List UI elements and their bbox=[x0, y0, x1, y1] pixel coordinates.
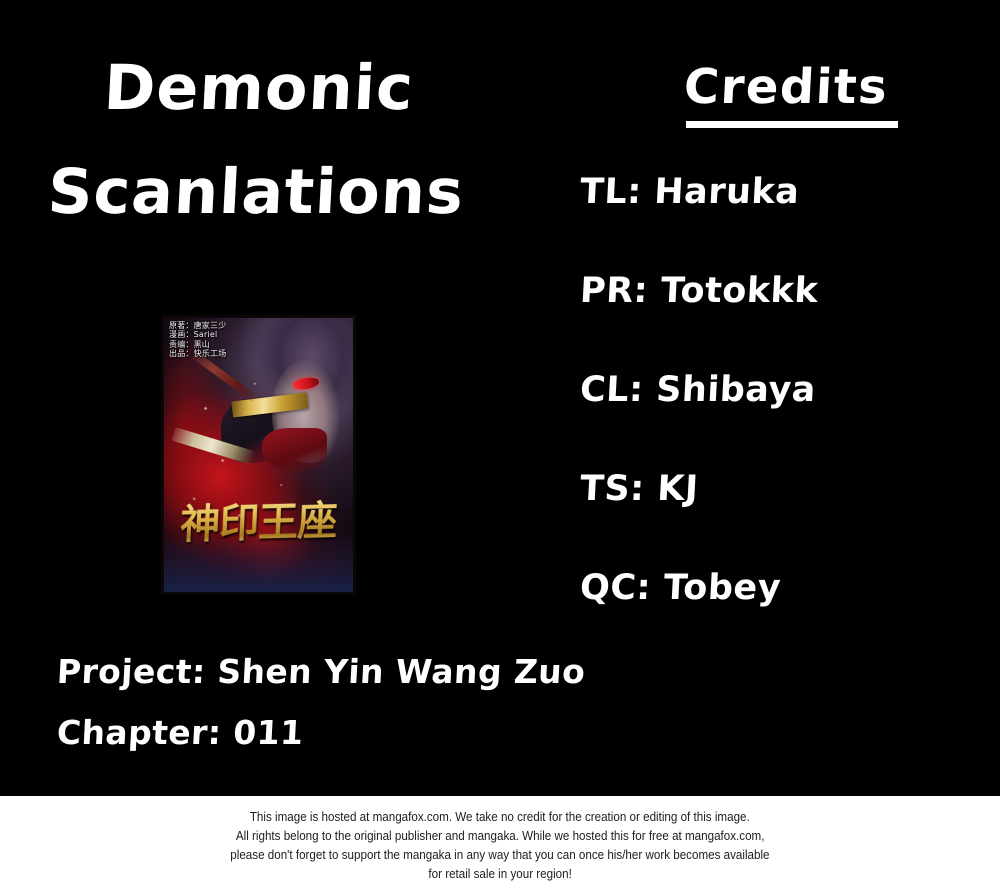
credits-page: Demonic Scanlations Credits TL: Haruka P… bbox=[0, 0, 1000, 890]
host-disclaimer-footer: This image is hosted at mangafox.com. We… bbox=[0, 796, 1000, 890]
group-title-line-1: Demonic bbox=[102, 57, 569, 119]
cover-staff-credits: 原著：唐家三少 漫画：Sariel 责编：黑山 出品：快乐工场 bbox=[169, 321, 226, 359]
credit-row-cl: CL: Shibaya bbox=[579, 373, 961, 408]
credits-underline-rule bbox=[686, 121, 898, 128]
cover-staff-artist: 漫画：Sariel bbox=[169, 330, 226, 339]
cover-staff-editor: 责编：黑山 bbox=[169, 340, 226, 349]
project-line: Project: Shen Yin Wang Zuo bbox=[56, 655, 698, 688]
cover-chinese-title: 神印王座 bbox=[164, 488, 353, 551]
disclaimer-line-4: for retail sale in your region! bbox=[428, 865, 571, 884]
cover-artwork: 原著：唐家三少 漫画：Sariel 责编：黑山 出品：快乐工场 神印王座 bbox=[164, 318, 353, 592]
cover-staff-producer: 出品：快乐工场 bbox=[169, 349, 226, 358]
cover-art-sparks bbox=[164, 318, 353, 592]
credit-row-qc: QC: Tobey bbox=[579, 571, 961, 606]
credit-row-pr: PR: Totokkk bbox=[579, 274, 961, 309]
release-info: Project: Shen Yin Wang Zuo Chapter: 011 bbox=[57, 655, 697, 749]
credits-section: Credits TL: Haruka PR: Totokkk CL: Shiba… bbox=[580, 62, 960, 606]
credits-heading: Credits bbox=[579, 62, 962, 112]
scanlation-group-title: Demonic Scanlations bbox=[48, 57, 568, 223]
credit-row-ts: TS: KJ bbox=[579, 472, 961, 507]
group-title-line-2: Scanlations bbox=[46, 161, 569, 223]
disclaimer-line-3: please don't forget to support the manga… bbox=[230, 846, 769, 865]
manga-cover-thumbnail: 原著：唐家三少 漫画：Sariel 责编：黑山 出品：快乐工场 神印王座 bbox=[161, 315, 356, 595]
disclaimer-line-2: All rights belong to the original publis… bbox=[236, 827, 765, 846]
disclaimer-line-1: This image is hosted at mangafox.com. We… bbox=[250, 808, 750, 827]
black-credits-panel: Demonic Scanlations Credits TL: Haruka P… bbox=[0, 0, 1000, 796]
credit-row-tl: TL: Haruka bbox=[579, 175, 961, 210]
chapter-line: Chapter: 011 bbox=[56, 716, 698, 749]
credits-list: TL: Haruka PR: Totokkk CL: Shibaya TS: K… bbox=[580, 175, 960, 606]
